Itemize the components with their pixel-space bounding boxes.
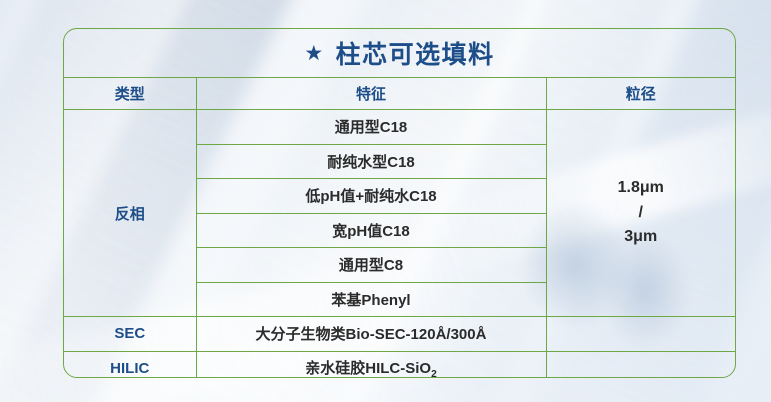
table-row: HILIC 亲水硅胶HILC-SiO2: [64, 351, 735, 378]
feature-cell: 通用型C18: [196, 110, 546, 145]
table-header-row: 类型 特征 粒径: [64, 78, 735, 110]
feature-cell-hilic: 亲水硅胶HILC-SiO2: [196, 351, 546, 378]
packing-material-table-card: ★ 柱芯可选填料 类型 特征 粒径 反相 通用型C1: [63, 28, 736, 378]
type-cell-reverse-phase: 反相: [64, 110, 196, 317]
page-root: ★ 柱芯可选填料 类型 特征 粒径 反相 通用型C1: [0, 0, 771, 402]
feature-cell: 通用型C8: [196, 248, 546, 283]
page-title-text: 柱芯可选填料: [336, 35, 495, 71]
particle-size-line1: 1.8μm: [547, 176, 736, 201]
particle-size-empty-cell: [546, 317, 735, 352]
subscript-2: 2: [431, 369, 437, 378]
star-icon: ★: [304, 43, 324, 64]
feature-cell: 大分子生物类Bio-SEC-120Å/300Å: [196, 317, 546, 352]
particle-size-separator: /: [547, 201, 736, 226]
table-title-bar: ★ 柱芯可选填料: [64, 29, 735, 78]
particle-size-line2: 3μm: [547, 225, 736, 250]
packing-material-table: 类型 特征 粒径 反相 通用型C18 1.8μm / 3μm 耐纯: [64, 78, 735, 378]
particle-size-cell: 1.8μm / 3μm: [546, 110, 735, 317]
column-header-type: 类型: [64, 78, 196, 110]
feature-cell: 耐纯水型C18: [196, 144, 546, 179]
table-row: SEC 大分子生物类Bio-SEC-120Å/300Å: [64, 317, 735, 352]
table-row: 反相 通用型C18 1.8μm / 3μm: [64, 110, 735, 145]
feature-cell: 低pH值+耐纯水C18: [196, 179, 546, 214]
column-header-size: 粒径: [546, 78, 735, 110]
feature-cell: 苯基Phenyl: [196, 282, 546, 317]
feature-text-hilic: 亲水硅胶HILC-SiO2: [305, 360, 437, 377]
feature-cell: 宽pH值C18: [196, 213, 546, 248]
page-title: ★ 柱芯可选填料: [304, 35, 494, 71]
column-header-feature: 特征: [196, 78, 546, 110]
type-cell-hilic: HILIC: [64, 351, 196, 378]
particle-size-empty-cell: [546, 351, 735, 378]
type-cell-sec: SEC: [64, 317, 196, 352]
